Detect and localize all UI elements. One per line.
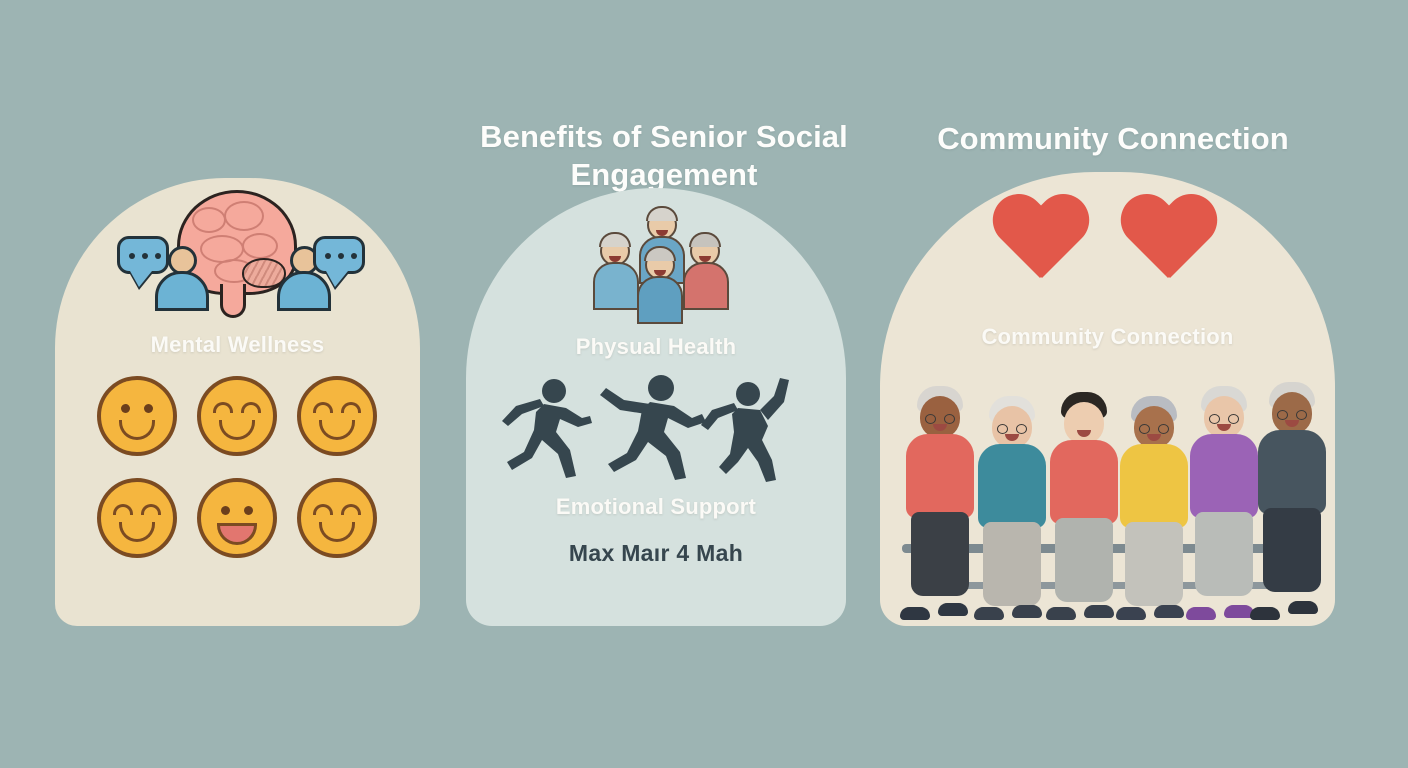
smiley-face-grid bbox=[87, 376, 387, 558]
seated-person bbox=[1116, 390, 1192, 620]
seated-seniors-illustration bbox=[888, 372, 1328, 620]
speech-bubble-icon bbox=[313, 236, 365, 274]
card-label-mental-wellness: Mental Wellness bbox=[55, 332, 420, 358]
heart-icon bbox=[990, 196, 1090, 288]
hearts-illustration bbox=[990, 196, 1240, 296]
seated-person bbox=[1186, 384, 1262, 620]
seated-person bbox=[1046, 388, 1122, 620]
card-mental-wellness: Mental Wellness bbox=[55, 178, 420, 626]
infographic-poster: Benefits of Senior Social Engagement Com… bbox=[0, 0, 1408, 768]
brain-stem-icon bbox=[220, 284, 246, 318]
section-title-community: Community Connection bbox=[908, 120, 1318, 158]
smiley-icon bbox=[297, 478, 377, 558]
seated-person bbox=[1254, 382, 1330, 620]
bubble-dots-icon bbox=[325, 253, 357, 259]
smiley-icon-open-mouth bbox=[197, 478, 277, 558]
garbled-caption-text: Max Maır 4 Mah bbox=[466, 540, 846, 567]
smiley-icon bbox=[97, 478, 177, 558]
seniors-group-icon bbox=[591, 204, 731, 312]
running-figures-illustration bbox=[486, 374, 826, 484]
running-person-icon bbox=[486, 374, 826, 484]
smiley-icon bbox=[297, 376, 377, 456]
smiley-icon bbox=[197, 376, 277, 456]
card-label-physical-health: Physual Health bbox=[466, 334, 846, 360]
card-label-community-connection: Community Connection bbox=[880, 324, 1335, 350]
smiley-icon bbox=[97, 376, 177, 456]
brain-conversation-illustration bbox=[117, 188, 367, 308]
card-community-connection: Community Connection bbox=[880, 172, 1335, 626]
page-title: Benefits of Senior Social Engagement bbox=[434, 118, 894, 195]
card-sublabel-emotional-support: Emotional Support bbox=[466, 494, 846, 520]
heart-icon bbox=[1118, 196, 1218, 288]
seated-person bbox=[974, 390, 1050, 620]
seated-person bbox=[902, 384, 978, 620]
person-icon bbox=[153, 246, 211, 308]
card-physical-health: Physual Health bbox=[466, 188, 846, 626]
